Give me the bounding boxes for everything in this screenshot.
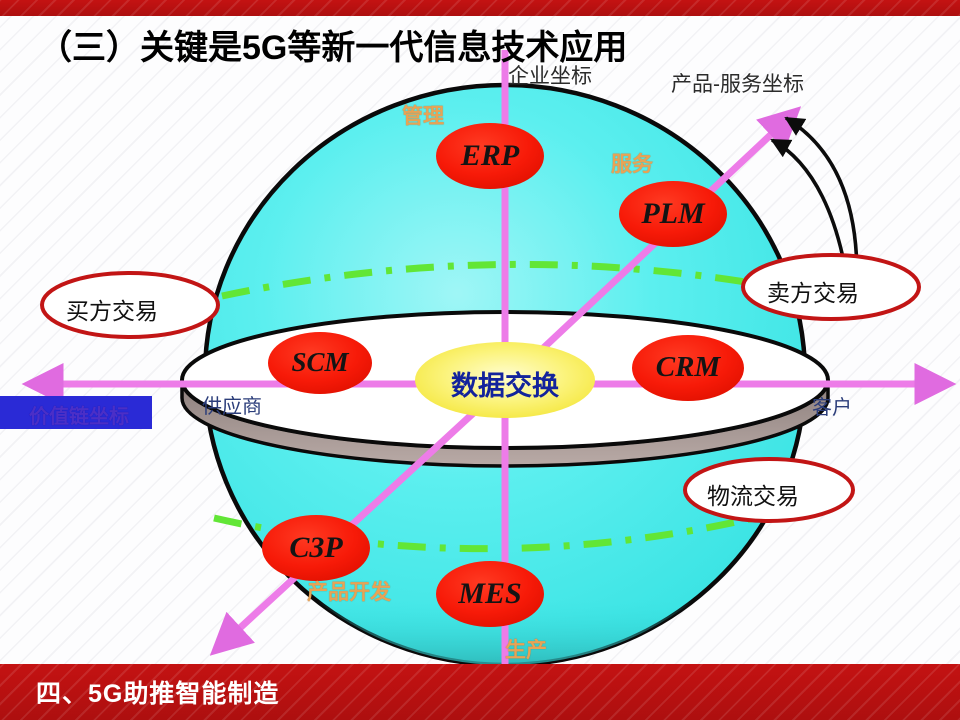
slide-canvas: （三）关键是5G等新一代信息技术应用 — [0, 0, 960, 720]
product-service-axis-label: 产品-服务坐标 — [671, 68, 804, 98]
section-label-service: 服务 — [611, 148, 653, 178]
endpoint-label-customer: 客户 — [812, 391, 852, 420]
diagram-svg — [0, 0, 960, 720]
section-label-product-development: 产品开发 — [307, 576, 391, 606]
hub-label: 数据交换 — [415, 364, 595, 403]
node-label-scm: SCM — [272, 347, 368, 378]
value-chain-axis-label: 价值链坐标 — [6, 400, 152, 429]
section-label-production: 生产 — [505, 634, 547, 664]
page-title: （三）关键是5G等新一代信息技术应用 — [38, 20, 627, 69]
endpoint-label-supplier: 供应商 — [202, 390, 262, 419]
node-label-mes: MES — [440, 577, 540, 611]
bubble-label-buyer-transaction: 买方交易 — [66, 292, 158, 326]
node-label-plm: PLM — [623, 197, 723, 231]
node-label-erp: ERP — [440, 139, 540, 173]
bottom-accent-bar: 四、5G助推智能制造 — [0, 664, 960, 720]
node-label-c3p: C3P — [266, 531, 366, 565]
section-label-management: 管理 — [402, 100, 444, 130]
node-label-crm: CRM — [638, 351, 738, 384]
footer-section-title: 四、5G助推智能制造 — [36, 674, 279, 710]
bubble-label-logistics-transaction: 物流交易 — [707, 477, 799, 511]
bubble-label-seller-transaction: 卖方交易 — [767, 274, 859, 308]
